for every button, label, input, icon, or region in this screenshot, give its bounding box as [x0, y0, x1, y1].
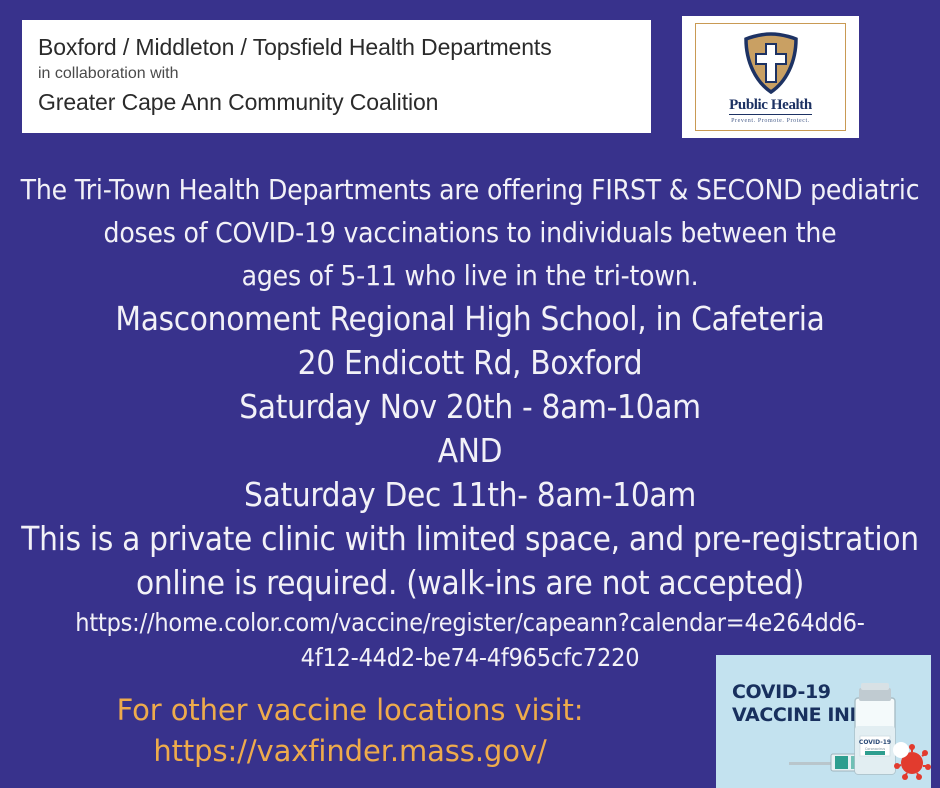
- org-primary-name: Boxford / Middleton / Topsfield Health D…: [38, 32, 651, 62]
- logo-name-text: Public Health: [729, 97, 812, 115]
- poster-body-text: The Tri-Town Health Departments are offe…: [0, 168, 940, 675]
- pill-icon: [893, 742, 909, 758]
- address-line: 20 Endicott Rd, Boxford: [0, 341, 940, 385]
- svg-text:COVID-19: COVID-19: [859, 739, 891, 746]
- organization-name-box: Boxford / Middleton / Topsfield Health D…: [22, 20, 651, 133]
- org-collaboration-label: in collaboration with: [38, 62, 651, 86]
- vaccine-vial-icon: COVID-19 Coronavirus: [855, 683, 895, 774]
- poster-header: Boxford / Middleton / Topsfield Health D…: [0, 0, 940, 148]
- other-locations-label: For other vaccine locations visit:: [0, 690, 700, 731]
- vaccine-vial-syringe-illustration: COVID-19 Coronavirus: [781, 678, 931, 788]
- body-line-1: The Tri-Town Health Departments are offe…: [0, 168, 940, 211]
- logo-wordmark: Public Health Prevent. Promote. Protect.: [696, 96, 845, 126]
- public-health-logo-box: Public Health Prevent. Promote. Protect.: [682, 16, 859, 138]
- body-line-3: ages of 5-11 who live in the tri-town.: [0, 254, 940, 297]
- logo-border-frame: Public Health Prevent. Promote. Protect.: [695, 23, 846, 131]
- org-partner-name: Greater Cape Ann Community Coalition: [38, 86, 651, 118]
- covid-vaccine-info-card: COVID-19 VACCINE INFO: [716, 655, 931, 788]
- registration-url-line-1[interactable]: https://home.color.com/vaccine/register/…: [0, 605, 940, 640]
- shield-cross-icon: [740, 32, 802, 94]
- registration-note-line-1: This is a private clinic with limited sp…: [0, 517, 940, 561]
- registration-note-line-2: online is required. (walk-ins are not ac…: [0, 561, 940, 605]
- and-separator: AND: [0, 429, 940, 473]
- logo-tagline-text: Prevent. Promote. Protect.: [696, 116, 845, 126]
- venue-line: Masconoment Regional High School, in Caf…: [0, 297, 940, 341]
- other-locations-block: For other vaccine locations visit: https…: [0, 690, 700, 772]
- svg-text:Coronavirus: Coronavirus: [865, 747, 886, 751]
- vaxfinder-url-link[interactable]: https://vaxfinder.mass.gov/: [0, 731, 700, 772]
- date-line-1: Saturday Nov 20th - 8am-10am: [0, 385, 940, 429]
- date-line-2: Saturday Dec 11th- 8am-10am: [0, 473, 940, 517]
- body-line-2: doses of COVID-19 vaccinations to indivi…: [0, 211, 940, 254]
- vaccine-clinic-poster: Boxford / Middleton / Topsfield Health D…: [0, 0, 940, 788]
